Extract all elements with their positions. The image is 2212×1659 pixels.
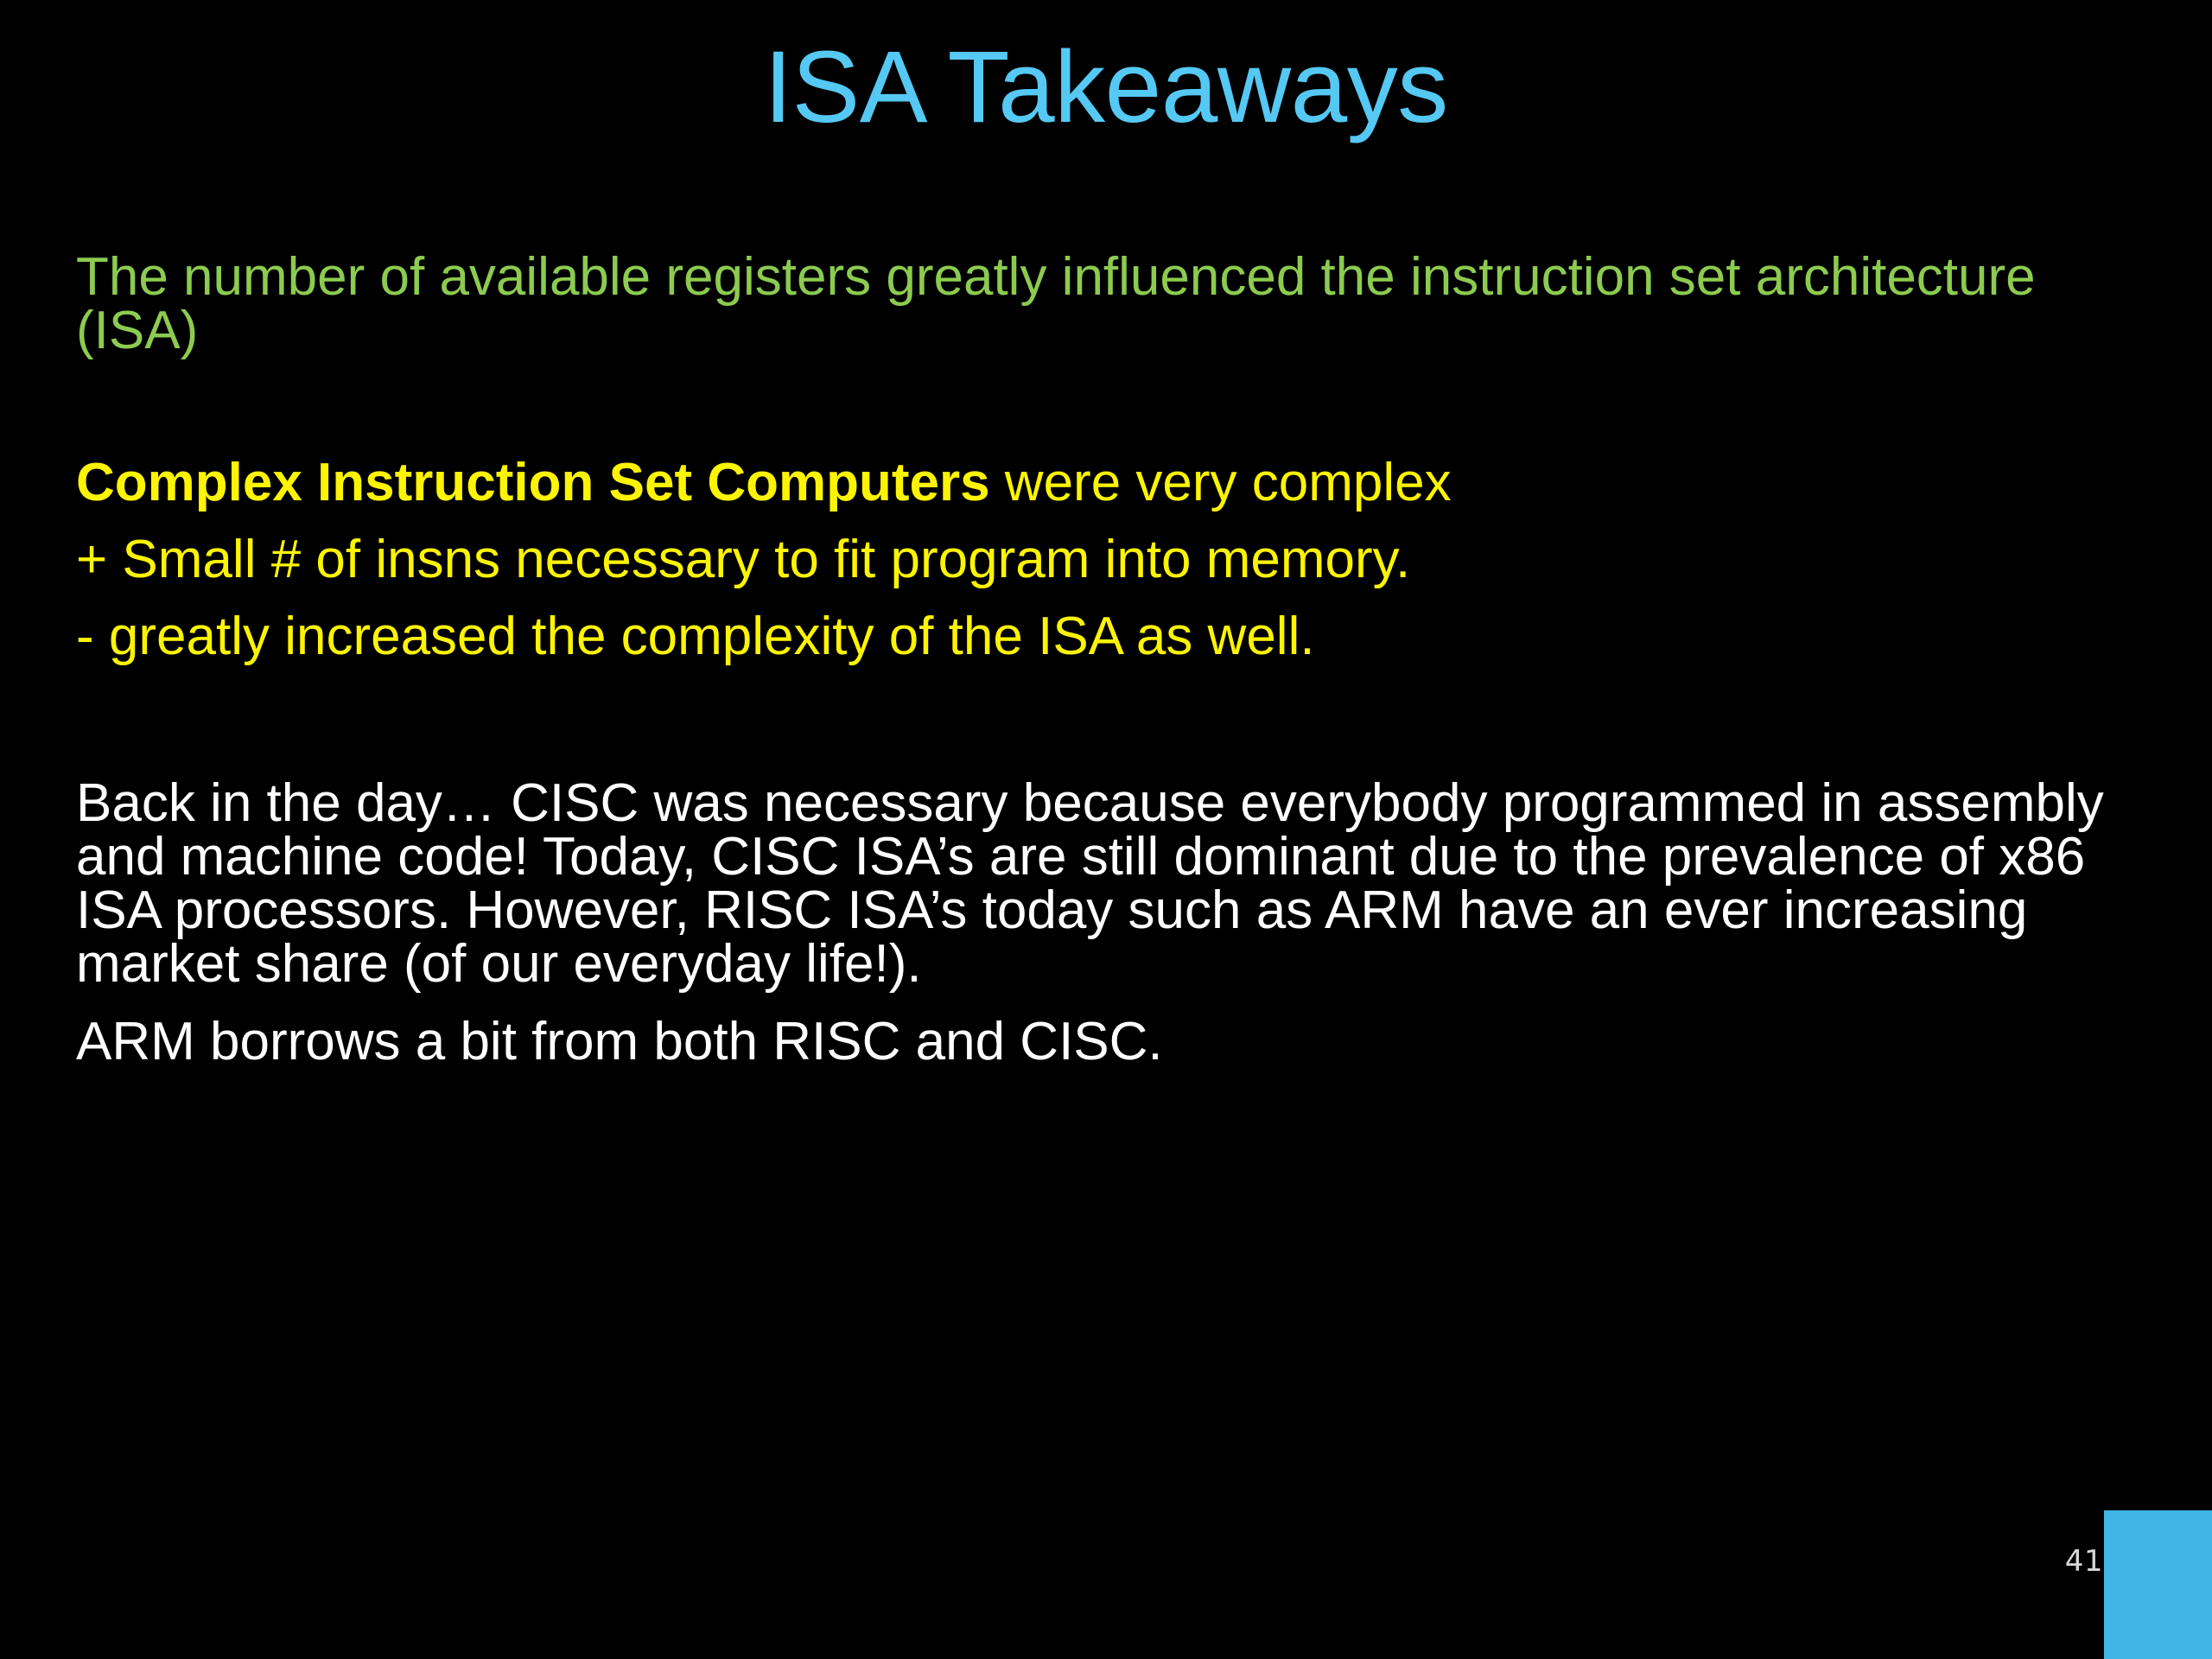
slide-body: The number of available registers greatl…: [76, 251, 2150, 1122]
corner-accent-decoration: [2104, 1510, 2212, 1659]
page-number: 41: [2065, 1544, 2103, 1579]
white-paragraph: Back in the day… CISC was necessary beca…: [76, 777, 2141, 991]
yellow-line-3: - greatly increased the complexity of th…: [76, 608, 2150, 666]
yellow-line-1-bold: Complex Instruction Set Computers: [76, 453, 990, 512]
green-paragraph: The number of available registers greatl…: [76, 251, 2141, 358]
page-title: ISA Takeaways: [0, 29, 2212, 147]
yellow-line-1-regular: were very complex: [990, 453, 1452, 512]
spacer-after-yellow: [76, 685, 2150, 777]
yellow-line-1: Complex Instruction Set Computers were v…: [76, 454, 2150, 512]
white-last-line: ARM borrows a bit from both RISC and CIS…: [76, 1015, 2150, 1069]
spacer-after-green: [76, 358, 2150, 454]
yellow-line-2: + Small # of insns necessary to fit prog…: [76, 531, 2150, 589]
slide-canvas: ISA Takeaways The number of available re…: [0, 0, 2212, 1659]
